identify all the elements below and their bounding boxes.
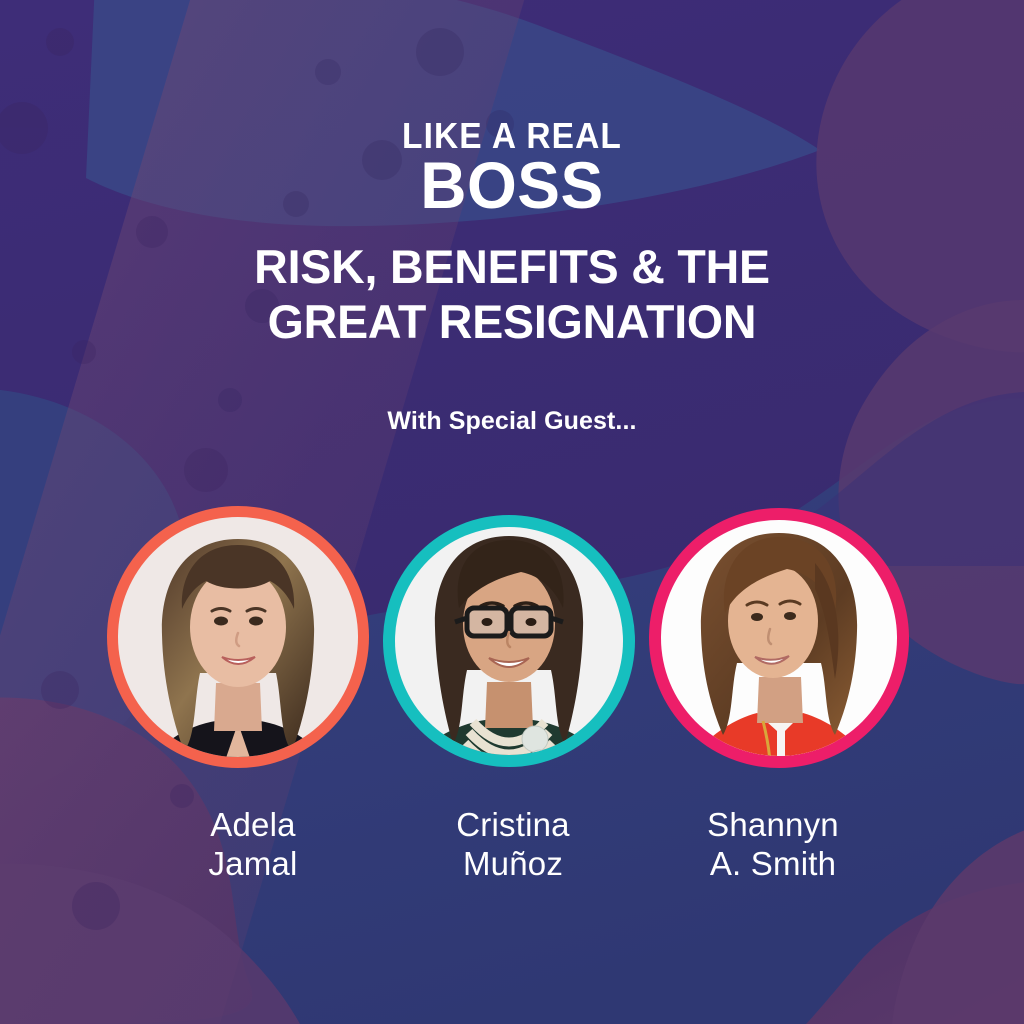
headline-line-1: RISK, BENEFITS & THE xyxy=(5,240,1019,295)
speaker-last-name-1: Jamal xyxy=(128,845,378,884)
portrait-eye-left-1 xyxy=(214,617,228,626)
speaker-first-name-3: Shannyn xyxy=(648,806,898,845)
speaker-first-name-2: Cristina xyxy=(388,806,638,845)
promo-poster: LIKE A REAL BOSS RISK, BENEFITS & THE GR… xyxy=(0,0,1024,1024)
portrait-neck-2 xyxy=(485,682,533,728)
guest-label: With Special Guest... xyxy=(0,409,1024,434)
speaker-portraits xyxy=(0,487,1024,797)
speaker-names: Adela Jamal Cristina Muñoz Shannyn A. Sm… xyxy=(0,806,1024,916)
speaker-name-1: Adela Jamal xyxy=(128,806,378,884)
portrait-neck-1 xyxy=(214,683,262,731)
episode-headline: RISK, BENEFITS & THE GREAT RESIGNATION xyxy=(5,240,1019,350)
speaker-name-3: Shannyn A. Smith xyxy=(648,806,898,884)
speaker-last-name-3: A. Smith xyxy=(648,845,898,884)
portrait-eye-right-1 xyxy=(249,617,263,626)
speaker-last-name-2: Muñoz xyxy=(388,845,638,884)
speaker-portrait-3 xyxy=(637,493,921,784)
portrait-neck-3 xyxy=(757,677,803,723)
brand-wordmark: BOSS xyxy=(15,152,1008,218)
speaker-portrait-2 xyxy=(369,500,649,783)
speaker-portrait-1 xyxy=(104,487,372,787)
speaker-name-2: Cristina Muñoz xyxy=(388,806,638,884)
headline-line-2: GREAT RESIGNATION xyxy=(5,295,1019,350)
speaker-first-name-1: Adela xyxy=(128,806,378,845)
